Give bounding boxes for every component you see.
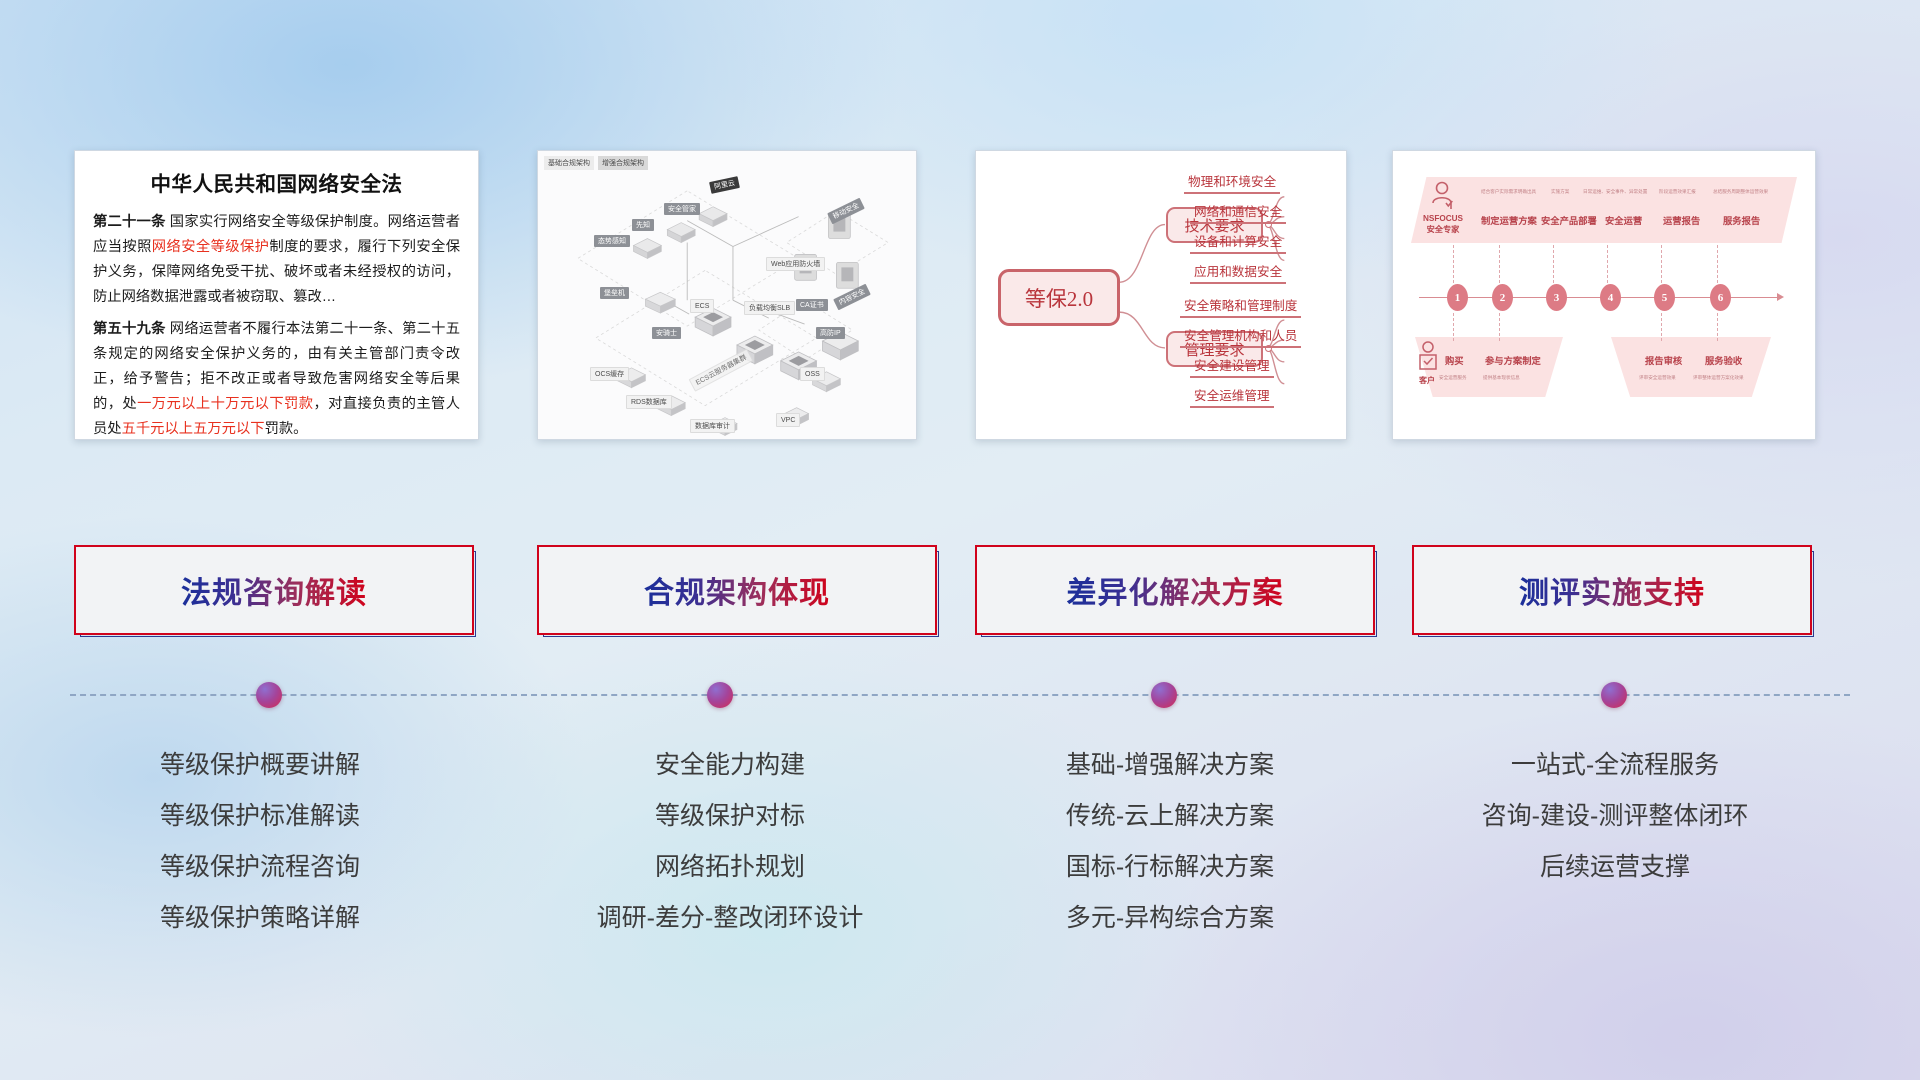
timeline-top-sub: 日常运维、安全事件、异常处置	[1583, 189, 1647, 195]
arch-node-ocs-cache: OCS缓存	[590, 367, 629, 381]
mindmap-leaf: 安全运维管理	[1190, 385, 1274, 408]
timeline-bottom-sub: 评审整体运营方案化效果	[1693, 375, 1744, 381]
headline-box-assessment-support[interactable]: 测评实施支持	[1412, 545, 1812, 635]
list-item: 后续运营支撑	[1400, 842, 1830, 893]
timeline-bullet-3[interactable]	[1151, 682, 1177, 708]
headline-label: 法规咨询解读	[181, 568, 367, 612]
headline-label: 合规架构体现	[644, 568, 830, 612]
timeline-bottom-step-label: 参与方案制定	[1485, 353, 1541, 367]
list-item: 传统-云上解决方案	[960, 791, 1380, 842]
timeline-top-step-label: 服务报告	[1723, 213, 1760, 227]
timeline-bullet-1[interactable]	[256, 682, 282, 708]
timeline-node-4[interactable]: 4	[1600, 284, 1621, 311]
timeline-top-sub: 阶段运营效果汇报	[1659, 189, 1696, 195]
detail-column-3: 基础-增强解决方案 传统-云上解决方案 国标-行标解决方案 多元-异构综合方案	[960, 740, 1380, 944]
mindmap-leaf: 安全管理机构和人员	[1180, 325, 1301, 348]
headline-label: 差异化解决方案	[1067, 568, 1284, 612]
law-document: 中华人民共和国网络安全法 第二十一条 国家实行网络安全等级保护制度。网络运营者应…	[75, 151, 478, 452]
list-item: 国标-行标解决方案	[960, 842, 1380, 893]
mindmap-leaf: 网络和通信安全	[1190, 201, 1286, 224]
list-item: 一站式-全流程服务	[1400, 740, 1830, 791]
timeline-connector	[1499, 313, 1500, 341]
timeline-bottom-step-label: 服务验收	[1705, 353, 1742, 367]
headline-box-compliance-architecture[interactable]: 合规架构体现	[537, 545, 937, 635]
list-item: 等级保护标准解读	[70, 791, 450, 842]
arch-node-anqishi: 安骑士	[652, 327, 681, 339]
list-item: 等级保护对标	[520, 791, 940, 842]
list-item: 等级保护概要讲解	[70, 740, 450, 791]
timeline-bullet-2[interactable]	[707, 682, 733, 708]
headline-box-differentiated-solution[interactable]: 差异化解决方案	[975, 545, 1375, 635]
timeline-connector	[1499, 245, 1500, 283]
arch-node-situational-awareness: 态势感知	[594, 235, 630, 247]
customer-person-icon	[1417, 341, 1439, 373]
list-item: 基础-增强解决方案	[960, 740, 1380, 791]
arch-node-database-audit: 数据库审计	[690, 419, 735, 433]
service-timeline: NSFOCUS 安全专家 结合客户实际需求明确出具 实施方案 日常运维、安全事件…	[1393, 151, 1815, 439]
list-item: 安全能力构建	[520, 740, 940, 791]
timeline-node-1[interactable]: 1	[1447, 284, 1468, 311]
arch-node-security-steward: 安全管家	[664, 203, 700, 215]
arch-node-rds-database: RDS数据库	[626, 395, 672, 409]
thumbnail-cards-row: 中华人民共和国网络安全法 第二十一条 国家实行网络安全等级保护制度。网络运营者应…	[0, 150, 1920, 440]
headline-box-regulation-consulting[interactable]: 法规咨询解读	[74, 545, 474, 635]
provider-brand: NSFOCUS	[1423, 214, 1463, 223]
law-article-number-21: 第二十一条	[93, 214, 166, 230]
law-article-number-59: 第五十九条	[93, 321, 166, 337]
timeline-dashed-line	[70, 694, 1850, 696]
arch-node-slb: 负载均衡SLB	[744, 301, 795, 315]
mindmap-leaf: 应用和数据安全	[1190, 261, 1286, 284]
timeline-provider-name: NSFOCUS 安全专家	[1413, 213, 1473, 235]
arch-node-bastion-host: 堡垒机	[600, 287, 629, 299]
detail-column-2: 安全能力构建 等级保护对标 网络拓扑规划 调研-差分-整改闭环设计	[520, 740, 940, 944]
timeline-connector	[1453, 245, 1454, 283]
timeline-top-step-label: 安全运营	[1605, 213, 1642, 227]
detail-columns: 等级保护概要讲解 等级保护标准解读 等级保护流程咨询 等级保护策略详解 安全能力…	[0, 740, 1920, 1040]
timeline-connector	[1661, 313, 1662, 341]
timeline-top-step-label: 运营报告	[1663, 213, 1700, 227]
mindmap-leaf: 安全策略和管理制度	[1180, 295, 1301, 318]
timeline-top-sub: 实施方案	[1551, 189, 1569, 195]
card-cloud-architecture[interactable]: 基础合规架构 增强合规架构	[537, 150, 917, 440]
list-item: 咨询-建设-测评整体闭环	[1400, 791, 1830, 842]
expert-person-icon	[1429, 181, 1455, 215]
timeline-bottom-sub: 评审安全运营效果	[1639, 375, 1676, 381]
timeline-connector	[1717, 313, 1718, 341]
mindmap-root-node: 等保2.0	[998, 269, 1120, 326]
law-text-highlight: 五千元以上五万元以下	[122, 421, 265, 437]
architecture-diagram: 基础合规架构 增强合规架构	[538, 151, 916, 439]
mindmap: 等保2.0 技术要求 物理和环境安全 网络和通信安全 设备和计算安全 应用和数据…	[976, 151, 1346, 439]
headline-boxes-row: 法规咨询解读 合规架构体现 差异化解决方案 测评实施支持	[0, 545, 1920, 640]
list-item: 等级保护策略详解	[70, 893, 450, 944]
law-text-highlight: 一万元以上十万元以下罚款	[137, 396, 313, 412]
law-text-highlight: 网络安全等级保护	[152, 239, 270, 255]
law-paragraph-21: 第二十一条 国家实行网络安全等级保护制度。网络运营者应当按照网络安全等级保护制度…	[93, 210, 460, 310]
arch-node-vpc: VPC	[776, 413, 800, 427]
arch-node-ecs: ECS	[690, 299, 714, 313]
timeline-top-step-label: 制定运营方案	[1481, 213, 1537, 227]
card-cybersecurity-law[interactable]: 中华人民共和国网络安全法 第二十一条 国家实行网络安全等级保护制度。网络运营者应…	[74, 150, 479, 440]
timeline-node-2[interactable]: 2	[1492, 284, 1513, 311]
arch-node-xianzhi: 先知	[632, 219, 654, 231]
detail-column-1: 等级保护概要讲解 等级保护标准解读 等级保护流程咨询 等级保护策略详解	[70, 740, 450, 944]
timeline-node-3[interactable]: 3	[1546, 284, 1567, 311]
card-service-timeline[interactable]: NSFOCUS 安全专家 结合客户实际需求明确出具 实施方案 日常运维、安全事件…	[1392, 150, 1816, 440]
mindmap-leaf: 安全建设管理	[1190, 355, 1274, 378]
law-paragraph-59: 第五十九条 网络运营者不履行本法第二十一条、第二十五条规定的网络安全保护义务的，…	[93, 317, 460, 442]
timeline-connector	[1453, 313, 1454, 341]
timeline-connector	[1607, 245, 1608, 283]
headline-label: 测评实施支持	[1519, 568, 1705, 612]
timeline-node-6[interactable]: 6	[1710, 284, 1731, 311]
timeline-arrow-icon	[1777, 293, 1784, 301]
law-text-seg: 罚款。	[265, 421, 308, 437]
list-item: 网络拓扑规划	[520, 842, 940, 893]
timeline-customer-band-right	[1611, 337, 1771, 397]
list-item: 调研-差分-整改闭环设计	[520, 893, 940, 944]
list-item: 多元-异构综合方案	[960, 893, 1380, 944]
timeline-bottom-step-label: 购买	[1445, 353, 1464, 367]
arch-node-anti-ddos-ip: 高防IP	[816, 327, 845, 339]
timeline-bottom-step-label: 报告审核	[1645, 353, 1682, 367]
timeline-top-sub: 结合客户实际需求明确出具	[1481, 189, 1536, 195]
timeline-customer-label: 客户	[1419, 375, 1435, 386]
arch-node-waf: Web应用防火墙	[766, 257, 825, 271]
timeline-node-5[interactable]: 5	[1654, 284, 1675, 311]
detail-column-4: 一站式-全流程服务 咨询-建设-测评整体闭环 后续运营支撑	[1400, 740, 1830, 893]
card-dengbao-mindmap[interactable]: 等保2.0 技术要求 物理和环境安全 网络和通信安全 设备和计算安全 应用和数据…	[975, 150, 1347, 440]
mindmap-leaf: 物理和环境安全	[1184, 171, 1280, 194]
timeline-bullet-4[interactable]	[1601, 682, 1627, 708]
timeline-top-step-label: 安全产品部署	[1541, 213, 1597, 227]
law-title: 中华人民共和国网络安全法	[93, 167, 460, 197]
arch-node-oss: OSS	[800, 367, 825, 381]
timeline-connector	[1661, 245, 1662, 283]
timeline-connector	[1553, 245, 1554, 283]
timeline-connector	[1717, 245, 1718, 283]
arch-node-ca-certificate: CA证书	[796, 299, 828, 311]
mindmap-leaf: 设备和计算安全	[1190, 231, 1286, 254]
timeline-bottom-sub: 提供基本现状信息	[1483, 375, 1520, 381]
timeline-top-sub: 总结服务周期整体运营效果	[1713, 189, 1768, 195]
timeline-bottom-sub: 安全运营服务	[1439, 375, 1467, 381]
process-timeline	[0, 665, 1920, 725]
provider-role: 安全专家	[1427, 225, 1460, 234]
list-item: 等级保护流程咨询	[70, 842, 450, 893]
